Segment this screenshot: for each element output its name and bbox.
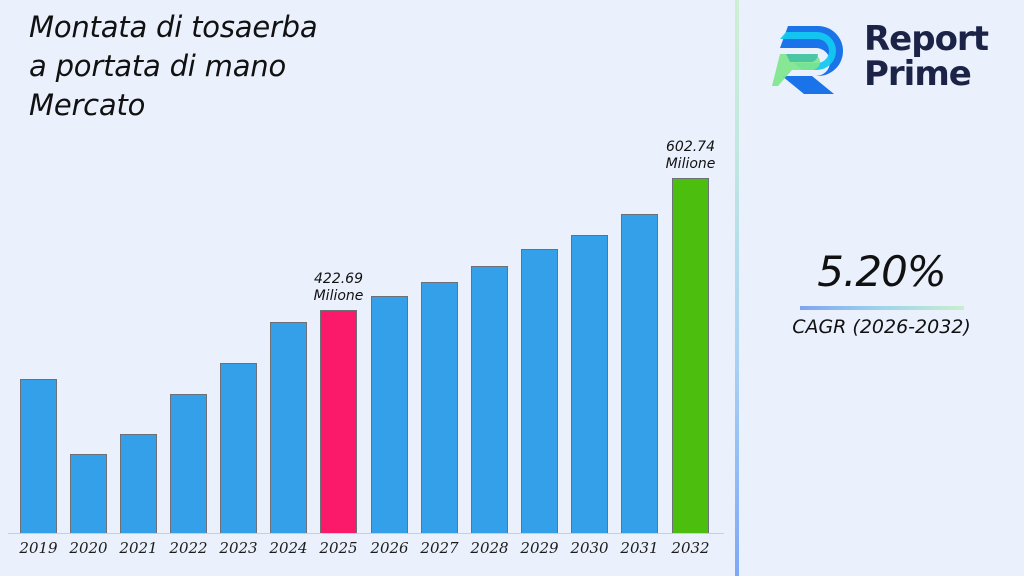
x-tick-label-2024: 2024 [264,539,314,557]
bar-2031[interactable] [621,214,658,533]
bar-value-label-2025: 422.69 Milione [279,271,399,305]
x-axis-line [8,533,724,534]
brand-name-line1: Report [864,19,988,59]
x-tick-label-2022: 2022 [164,539,214,557]
x-tick-label-2028: 2028 [465,539,515,557]
x-tick-label-2031: 2031 [615,539,665,557]
cagr-block: 5.20% CAGR (2026-2032) [739,246,1024,340]
bar-2032[interactable] [672,178,709,533]
chart-infographic: Montata di tosaerba a portata di mano Me… [0,0,1024,576]
x-tick-label-2029: 2029 [515,539,565,557]
brand-panel: ReportPrime 5.20% CAGR (2026-2032) [739,0,1024,576]
bar-value-label-2032: 602.74 Milione [631,139,751,173]
bar-2019[interactable] [20,379,57,533]
brand-name: ReportPrime [864,22,988,92]
brand-name-line2: Prime [864,54,971,94]
bar-2024[interactable] [270,322,307,533]
bar-2030[interactable] [571,235,608,533]
bar-2029[interactable] [521,249,558,533]
x-tick-label-2019: 2019 [14,539,64,557]
x-tick-label-2025: 2025 [314,539,364,557]
bar-2020[interactable] [70,454,107,533]
bar-2028[interactable] [471,266,508,533]
x-tick-label-2032: 2032 [666,539,716,557]
report-prime-logo: ReportPrime [772,12,1022,102]
x-tick-label-2020: 2020 [64,539,114,557]
bar-2022[interactable] [170,394,207,533]
bar-2026[interactable] [371,296,408,533]
x-tick-label-2023: 2023 [214,539,264,557]
x-tick-label-2030: 2030 [565,539,615,557]
bar-2027[interactable] [421,282,458,533]
cagr-caption: CAGR (2026-2032) [739,314,1024,340]
x-tick-label-2026: 2026 [365,539,415,557]
bar-2025[interactable] [320,310,357,533]
bar-chart-plot-area: 2019202020212022202320242025202620272028… [0,0,737,576]
report-prime-r-logo-icon [772,18,852,96]
cagr-value: 5.20% [739,246,1024,298]
bar-2023[interactable] [220,363,257,533]
x-tick-label-2021: 2021 [114,539,164,557]
x-tick-label-2027: 2027 [415,539,465,557]
bar-2021[interactable] [120,434,157,533]
cagr-divider-rule [800,306,964,310]
chart-panel: Montata di tosaerba a portata di mano Me… [0,0,737,576]
